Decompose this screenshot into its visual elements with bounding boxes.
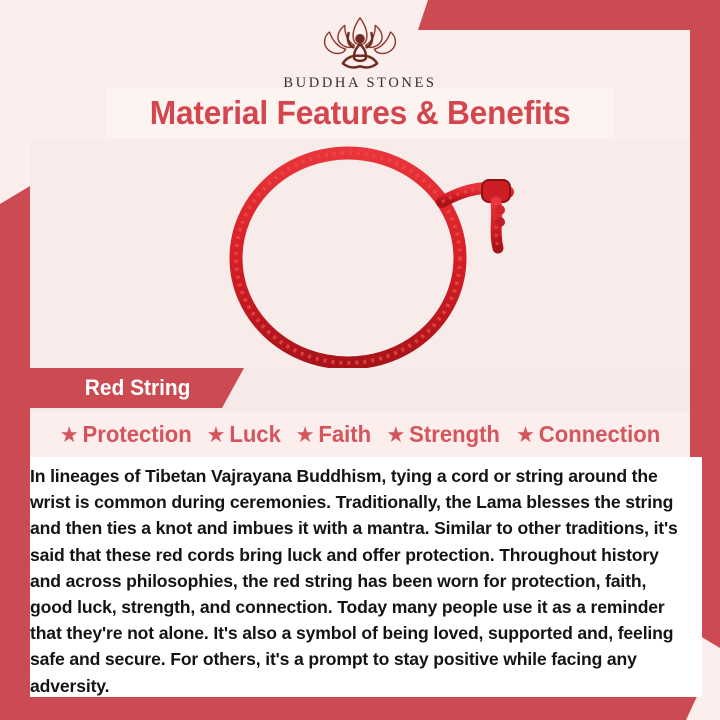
star-icon: ★	[207, 424, 226, 446]
infographic-page: BUDDHA STONES Material Features & Benefi…	[0, 0, 720, 720]
benefit-label: Luck	[230, 421, 282, 448]
star-icon: ★	[295, 424, 314, 446]
benefit-item-faith: ★ Faith	[295, 421, 371, 448]
title-banner: Material Features & Benefits	[107, 88, 613, 138]
description-text: In lineages of Tibetan Vajrayana Buddhis…	[30, 463, 690, 699]
lotus-meditation-icon	[300, 14, 420, 73]
star-icon: ★	[60, 424, 79, 446]
star-icon: ★	[386, 424, 405, 446]
benefit-label: Protection	[82, 421, 191, 448]
description-panel: In lineages of Tibetan Vajrayana Buddhis…	[30, 457, 702, 697]
benefit-item-luck: ★ Luck	[207, 421, 281, 448]
ribbon-row: Red String	[30, 368, 690, 412]
benefit-item-connection: ★ Connection	[516, 421, 660, 448]
page-title: Material Features & Benefits	[150, 94, 571, 132]
benefits-row: ★ Protection ★ Luck ★ Faith ★ Strength ★…	[30, 412, 690, 457]
frame-accent-left	[0, 186, 30, 720]
benefit-item-strength: ★ Strength	[386, 421, 500, 448]
benefit-label: Connection	[539, 421, 660, 448]
product-label-ribbon: Red String	[30, 368, 244, 408]
benefit-label: Faith	[318, 421, 371, 448]
product-label-text: Red String	[85, 375, 191, 401]
benefit-label: Strength	[409, 421, 500, 448]
brand-logo: BUDDHA STONES	[0, 14, 720, 92]
product-image	[30, 140, 690, 368]
benefit-item-protection: ★ Protection	[60, 421, 192, 448]
star-icon: ★	[516, 424, 535, 446]
red-string-bracelet-illustration	[30, 140, 690, 368]
